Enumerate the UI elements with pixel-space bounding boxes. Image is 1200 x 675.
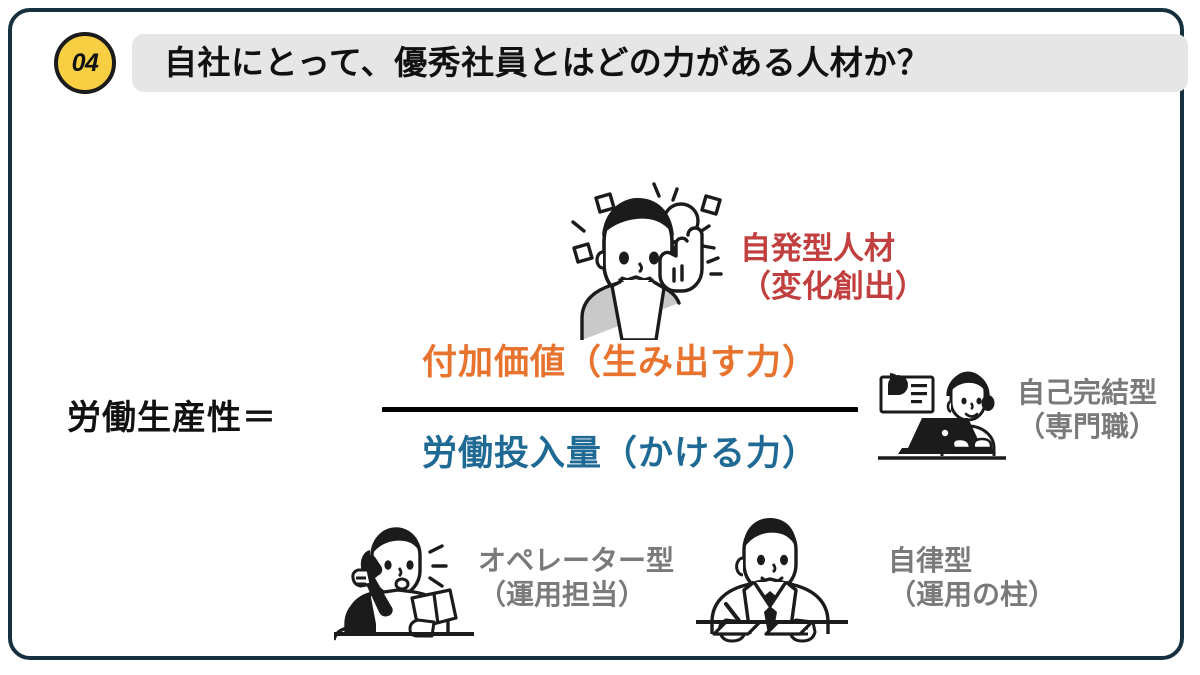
fraction-denominator: 労働投入量（かける力） xyxy=(382,436,858,471)
suited-writer-person-icon xyxy=(696,510,848,646)
persona-label-jiritsu: 自律型 （運用の柱） xyxy=(888,544,1056,612)
phone-operator-person-icon xyxy=(334,510,474,646)
page-title: 自社にとって、優秀社員とはどの力がある人材か？ xyxy=(164,34,930,92)
persona-subtitle-jiko-kanketsu: （専門職） xyxy=(1017,410,1157,444)
persona-title-jiritsu: 自律型 xyxy=(888,545,972,576)
productivity-fraction: 付加価値（生み出す力） 労働投入量（かける力） xyxy=(382,345,858,471)
persona-label-operator: オペレーター型 （運用担当） xyxy=(478,544,674,612)
persona-title-operator: オペレーター型 xyxy=(478,545,674,576)
slide-header: 04 自社にとって、優秀社員とはどの力がある人材か？ xyxy=(44,34,1156,92)
persona-label-jihatsu: 自発型人材 （変化創出） xyxy=(740,230,926,306)
persona-subtitle-jiritsu: （運用の柱） xyxy=(888,578,1056,612)
persona-subtitle-jihatsu: （変化創出） xyxy=(740,268,926,306)
fraction-bar xyxy=(382,407,858,412)
section-number-badge: 04 xyxy=(54,32,116,94)
persona-label-jiko-kanketsu: 自己完結型 （専門職） xyxy=(1017,376,1157,444)
headset-laptop-person-icon xyxy=(878,370,1006,462)
fraction-numerator: 付加価値（生み出す力） xyxy=(382,345,858,380)
section-number-text: 04 xyxy=(72,51,99,76)
persona-subtitle-operator: （運用担当） xyxy=(478,578,674,612)
persona-title-jihatsu: 自発型人材 xyxy=(740,231,895,266)
lightbulb-idea-person-icon xyxy=(560,170,738,340)
slide-frame: 04 自社にとって、優秀社員とはどの力がある人材か？ xyxy=(8,8,1184,660)
formula-left-label: 労働生産性＝ xyxy=(67,390,277,439)
persona-title-jiko-kanketsu: 自己完結型 xyxy=(1017,377,1157,408)
